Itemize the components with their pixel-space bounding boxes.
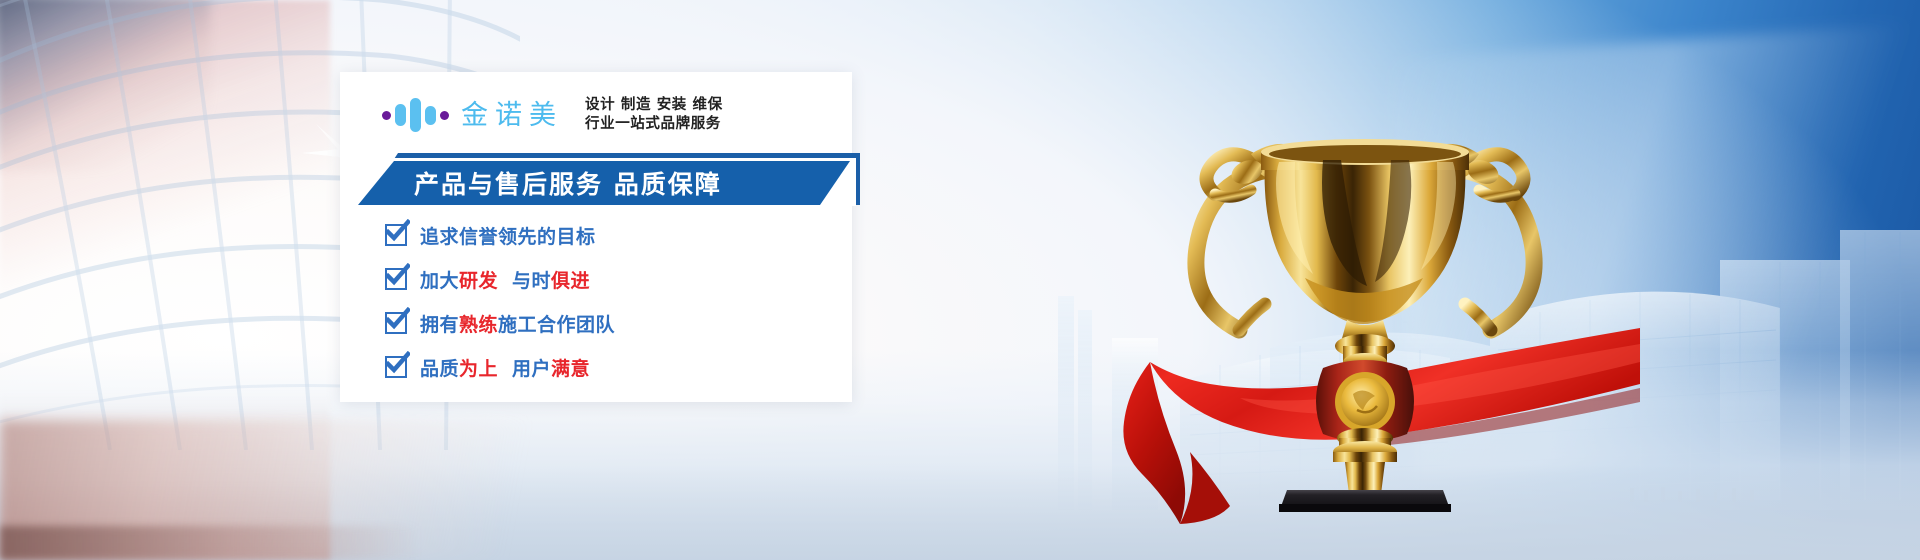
feature-text-accent: 为上 xyxy=(459,354,498,381)
logo-bar-3 xyxy=(425,106,436,125)
tagline-block: 设计 制造 安装 维保 行业一站式品牌服务 xyxy=(585,96,723,134)
feature-text: 施工合作团队 xyxy=(498,310,615,337)
feature-text: 追求信誉领先的目标 xyxy=(420,222,596,249)
feature-text-accent: 研发 xyxy=(459,266,498,293)
soundwave-logo-icon xyxy=(382,97,449,133)
logo-dot-right xyxy=(440,111,449,120)
feature-text-accent: 满意 xyxy=(551,354,590,381)
ribbon-fill: 产品与售后服务 品质保障 xyxy=(358,161,850,205)
feature-text: 加大 xyxy=(420,266,459,293)
list-item: 拥有 熟练 施工合作团队 xyxy=(385,306,815,340)
ribbon-label: 产品与售后服务 品质保障 xyxy=(414,165,722,201)
feature-text: 与时 xyxy=(512,266,551,293)
tagline-line-2: 行业一站式品牌服务 xyxy=(585,115,723,134)
gold-trophy-icon xyxy=(1155,42,1575,512)
feature-text: 拥有 xyxy=(420,310,459,337)
logo-row: 金诺美 设计 制造 安装 维保 行业一站式品牌服务 xyxy=(382,96,723,134)
list-item: 加大 研发 与时 俱进 xyxy=(385,262,815,296)
headline-ribbon: 产品与售后服务 品质保障 xyxy=(340,153,860,213)
checkbox-checked-icon xyxy=(385,268,407,290)
list-item: 品质 为上 用户 满意 xyxy=(385,350,815,384)
feature-text-accent: 俱进 xyxy=(551,266,590,293)
background-scene xyxy=(0,0,1920,560)
feature-text: 用户 xyxy=(512,354,551,381)
logo-bar-1 xyxy=(395,104,406,126)
checkbox-checked-icon xyxy=(385,224,407,246)
feature-text: 品质 xyxy=(420,354,459,381)
checkbox-checked-icon xyxy=(385,356,407,378)
list-item: 追求信誉领先的目标 xyxy=(385,218,815,252)
checkbox-checked-icon xyxy=(385,312,407,334)
bottom-strip-left xyxy=(0,526,420,560)
feature-text-accent: 熟练 xyxy=(459,310,498,337)
tagline-line-1: 设计 制造 安装 维保 xyxy=(585,96,723,115)
feature-list: 追求信誉领先的目标 加大 研发 与时 俱进 拥有 熟练 施工合作团队 xyxy=(385,218,815,394)
logo-dot-left xyxy=(382,111,391,120)
banner-stage: 金诺美 设计 制造 安装 维保 行业一站式品牌服务 产品与售后服务 品质保障 追… xyxy=(0,0,1920,560)
brand-name: 金诺美 xyxy=(461,102,563,129)
logo-bar-2 xyxy=(410,98,421,132)
